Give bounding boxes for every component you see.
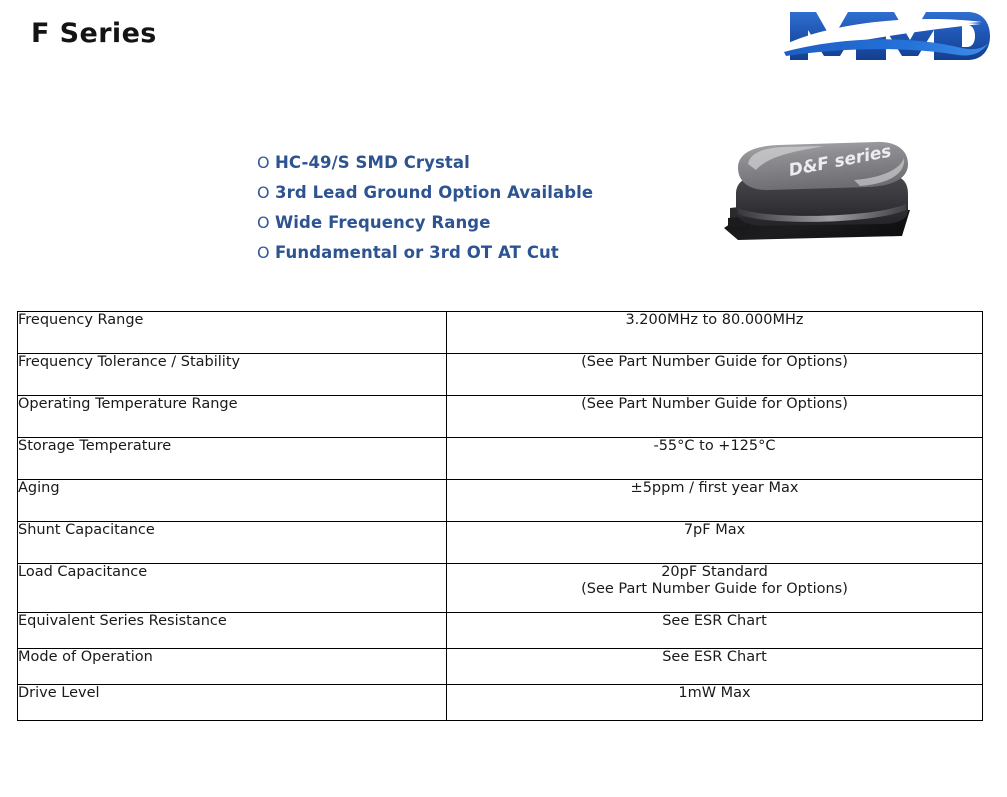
param-value: 20pF Standard (See Part Number Guide for… bbox=[447, 564, 983, 613]
page-title: F Series bbox=[31, 18, 157, 49]
param-name: Frequency Range bbox=[18, 312, 447, 354]
table-row: Mode of Operation See ESR Chart bbox=[18, 649, 983, 685]
circle-marker-icon: O bbox=[257, 178, 275, 208]
param-name: Drive Level bbox=[18, 685, 447, 721]
value-line: 1mW Max bbox=[447, 685, 982, 702]
param-value: 7pF Max bbox=[447, 522, 983, 564]
param-value: ±5ppm / first year Max bbox=[447, 480, 983, 522]
table-row: Equivalent Series Resistance See ESR Cha… bbox=[18, 613, 983, 649]
value-line: ±5ppm / first year Max bbox=[447, 480, 982, 497]
table-row: Operating Temperature Range (See Part Nu… bbox=[18, 396, 983, 438]
table-row: Drive Level 1mW Max bbox=[18, 685, 983, 721]
product-photo: D&F series D&F series bbox=[704, 136, 934, 258]
param-name: Aging bbox=[18, 480, 447, 522]
mmd-logo: MMD bbox=[776, 4, 991, 66]
param-value: 3.200MHz to 80.000MHz bbox=[447, 312, 983, 354]
value-line: (See Part Number Guide for Options) bbox=[447, 396, 982, 413]
table-row: Frequency Tolerance / Stability (See Par… bbox=[18, 354, 983, 396]
param-value: -55°C to +125°C bbox=[447, 438, 983, 480]
table-row: Frequency Range 3.200MHz to 80.000MHz bbox=[18, 312, 983, 354]
table-row: Aging ±5ppm / first year Max bbox=[18, 480, 983, 522]
feature-list: O HC-49/S SMD Crystal O 3rd Lead Ground … bbox=[257, 148, 677, 268]
param-name: Equivalent Series Resistance bbox=[18, 613, 447, 649]
value-line: 7pF Max bbox=[447, 522, 982, 539]
feature-label: 3rd Lead Ground Option Available bbox=[275, 178, 593, 208]
param-value: 1mW Max bbox=[447, 685, 983, 721]
param-name: Storage Temperature bbox=[18, 438, 447, 480]
value-line: -55°C to +125°C bbox=[447, 438, 982, 455]
param-name: Frequency Tolerance / Stability bbox=[18, 354, 447, 396]
circle-marker-icon: O bbox=[257, 208, 275, 238]
value-line: (See Part Number Guide for Options) bbox=[447, 354, 982, 371]
feature-label: Wide Frequency Range bbox=[275, 208, 491, 238]
param-name: Load Capacitance bbox=[18, 564, 447, 613]
param-value: (See Part Number Guide for Options) bbox=[447, 396, 983, 438]
param-name: Operating Temperature Range bbox=[18, 396, 447, 438]
table-row: Shunt Capacitance 7pF Max bbox=[18, 522, 983, 564]
feature-item-3: O Wide Frequency Range bbox=[257, 208, 677, 238]
specification-table: Frequency Range 3.200MHz to 80.000MHz Fr… bbox=[17, 311, 983, 721]
value-line: 3.200MHz to 80.000MHz bbox=[447, 312, 982, 329]
param-name: Mode of Operation bbox=[18, 649, 447, 685]
param-value: See ESR Chart bbox=[447, 649, 983, 685]
value-line: See ESR Chart bbox=[447, 649, 982, 666]
value-line: 20pF Standard bbox=[447, 564, 982, 581]
circle-marker-icon: O bbox=[257, 238, 275, 268]
feature-label: HC-49/S SMD Crystal bbox=[275, 148, 470, 178]
feature-item-4: O Fundamental or 3rd OT AT Cut bbox=[257, 238, 677, 268]
feature-item-2: O 3rd Lead Ground Option Available bbox=[257, 178, 677, 208]
value-line: See ESR Chart bbox=[447, 613, 982, 630]
param-value: See ESR Chart bbox=[447, 613, 983, 649]
table-row: Storage Temperature -55°C to +125°C bbox=[18, 438, 983, 480]
value-line: (See Part Number Guide for Options) bbox=[447, 581, 982, 598]
param-value: (See Part Number Guide for Options) bbox=[447, 354, 983, 396]
circle-marker-icon: O bbox=[257, 148, 275, 178]
feature-label: Fundamental or 3rd OT AT Cut bbox=[275, 238, 559, 268]
table-row: Load Capacitance 20pF Standard (See Part… bbox=[18, 564, 983, 613]
feature-item-1: O HC-49/S SMD Crystal bbox=[257, 148, 677, 178]
param-name: Shunt Capacitance bbox=[18, 522, 447, 564]
